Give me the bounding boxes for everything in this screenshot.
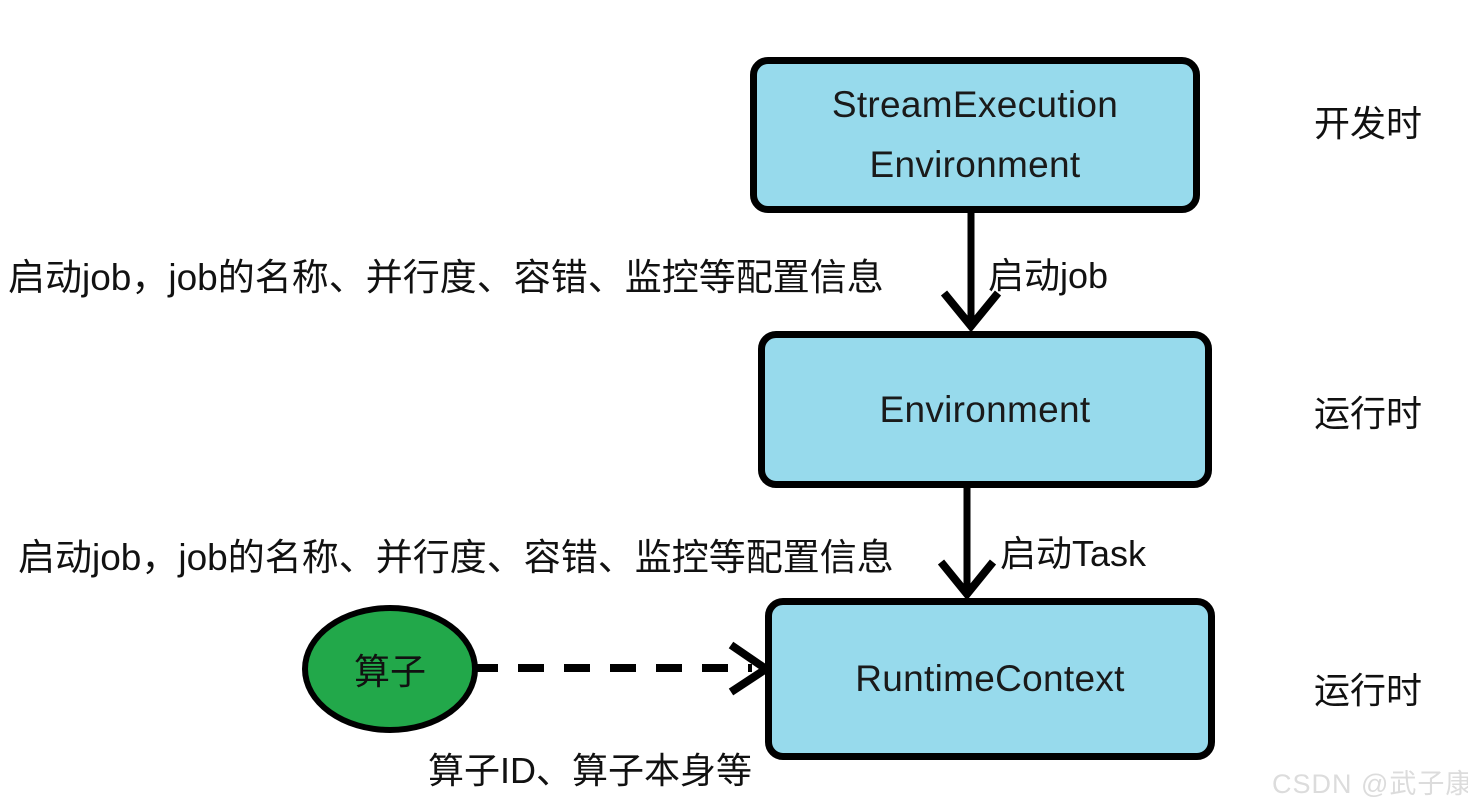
- node-label-line-1: StreamExecution: [832, 75, 1118, 135]
- edge-label-start-job: 启动job: [988, 247, 1108, 299]
- edge-label-start-task: 启动Task: [1000, 525, 1146, 577]
- node-environment[interactable]: Environment: [758, 331, 1212, 488]
- edge-label-operator-info: 算子ID、算子本身等: [428, 742, 752, 794]
- node-stream-execution-environment-label: StreamExecution Environment: [832, 75, 1118, 195]
- node-runtime-context-label: RuntimeContext: [855, 649, 1125, 709]
- flow-note-bottom: 启动job，job的名称、并行度、容错、监控等配置信息: [18, 527, 894, 581]
- node-runtime-context[interactable]: RuntimeContext: [765, 598, 1215, 760]
- node-operator[interactable]: 算子: [302, 605, 478, 733]
- node-operator-label: 算子: [354, 643, 426, 695]
- csdn-watermark: CSDN @武子康: [1272, 762, 1468, 801]
- flow-note-top: 启动job，job的名称、并行度、容错、监控等配置信息: [8, 247, 884, 301]
- node-environment-label: Environment: [879, 380, 1090, 440]
- connector-operator-info: [472, 645, 766, 692]
- stage-label-runtime-1: 运行时: [1314, 385, 1422, 437]
- diagram-canvas: StreamExecution Environment Environment …: [0, 0, 1468, 808]
- diagram-connectors-layer: [0, 0, 1468, 808]
- node-stream-execution-environment[interactable]: StreamExecution Environment: [750, 57, 1200, 213]
- connector-start-task: [941, 488, 993, 594]
- stage-label-development: 开发时: [1314, 95, 1422, 147]
- node-label-line-2: Environment: [832, 135, 1118, 195]
- stage-label-runtime-2: 运行时: [1314, 662, 1422, 714]
